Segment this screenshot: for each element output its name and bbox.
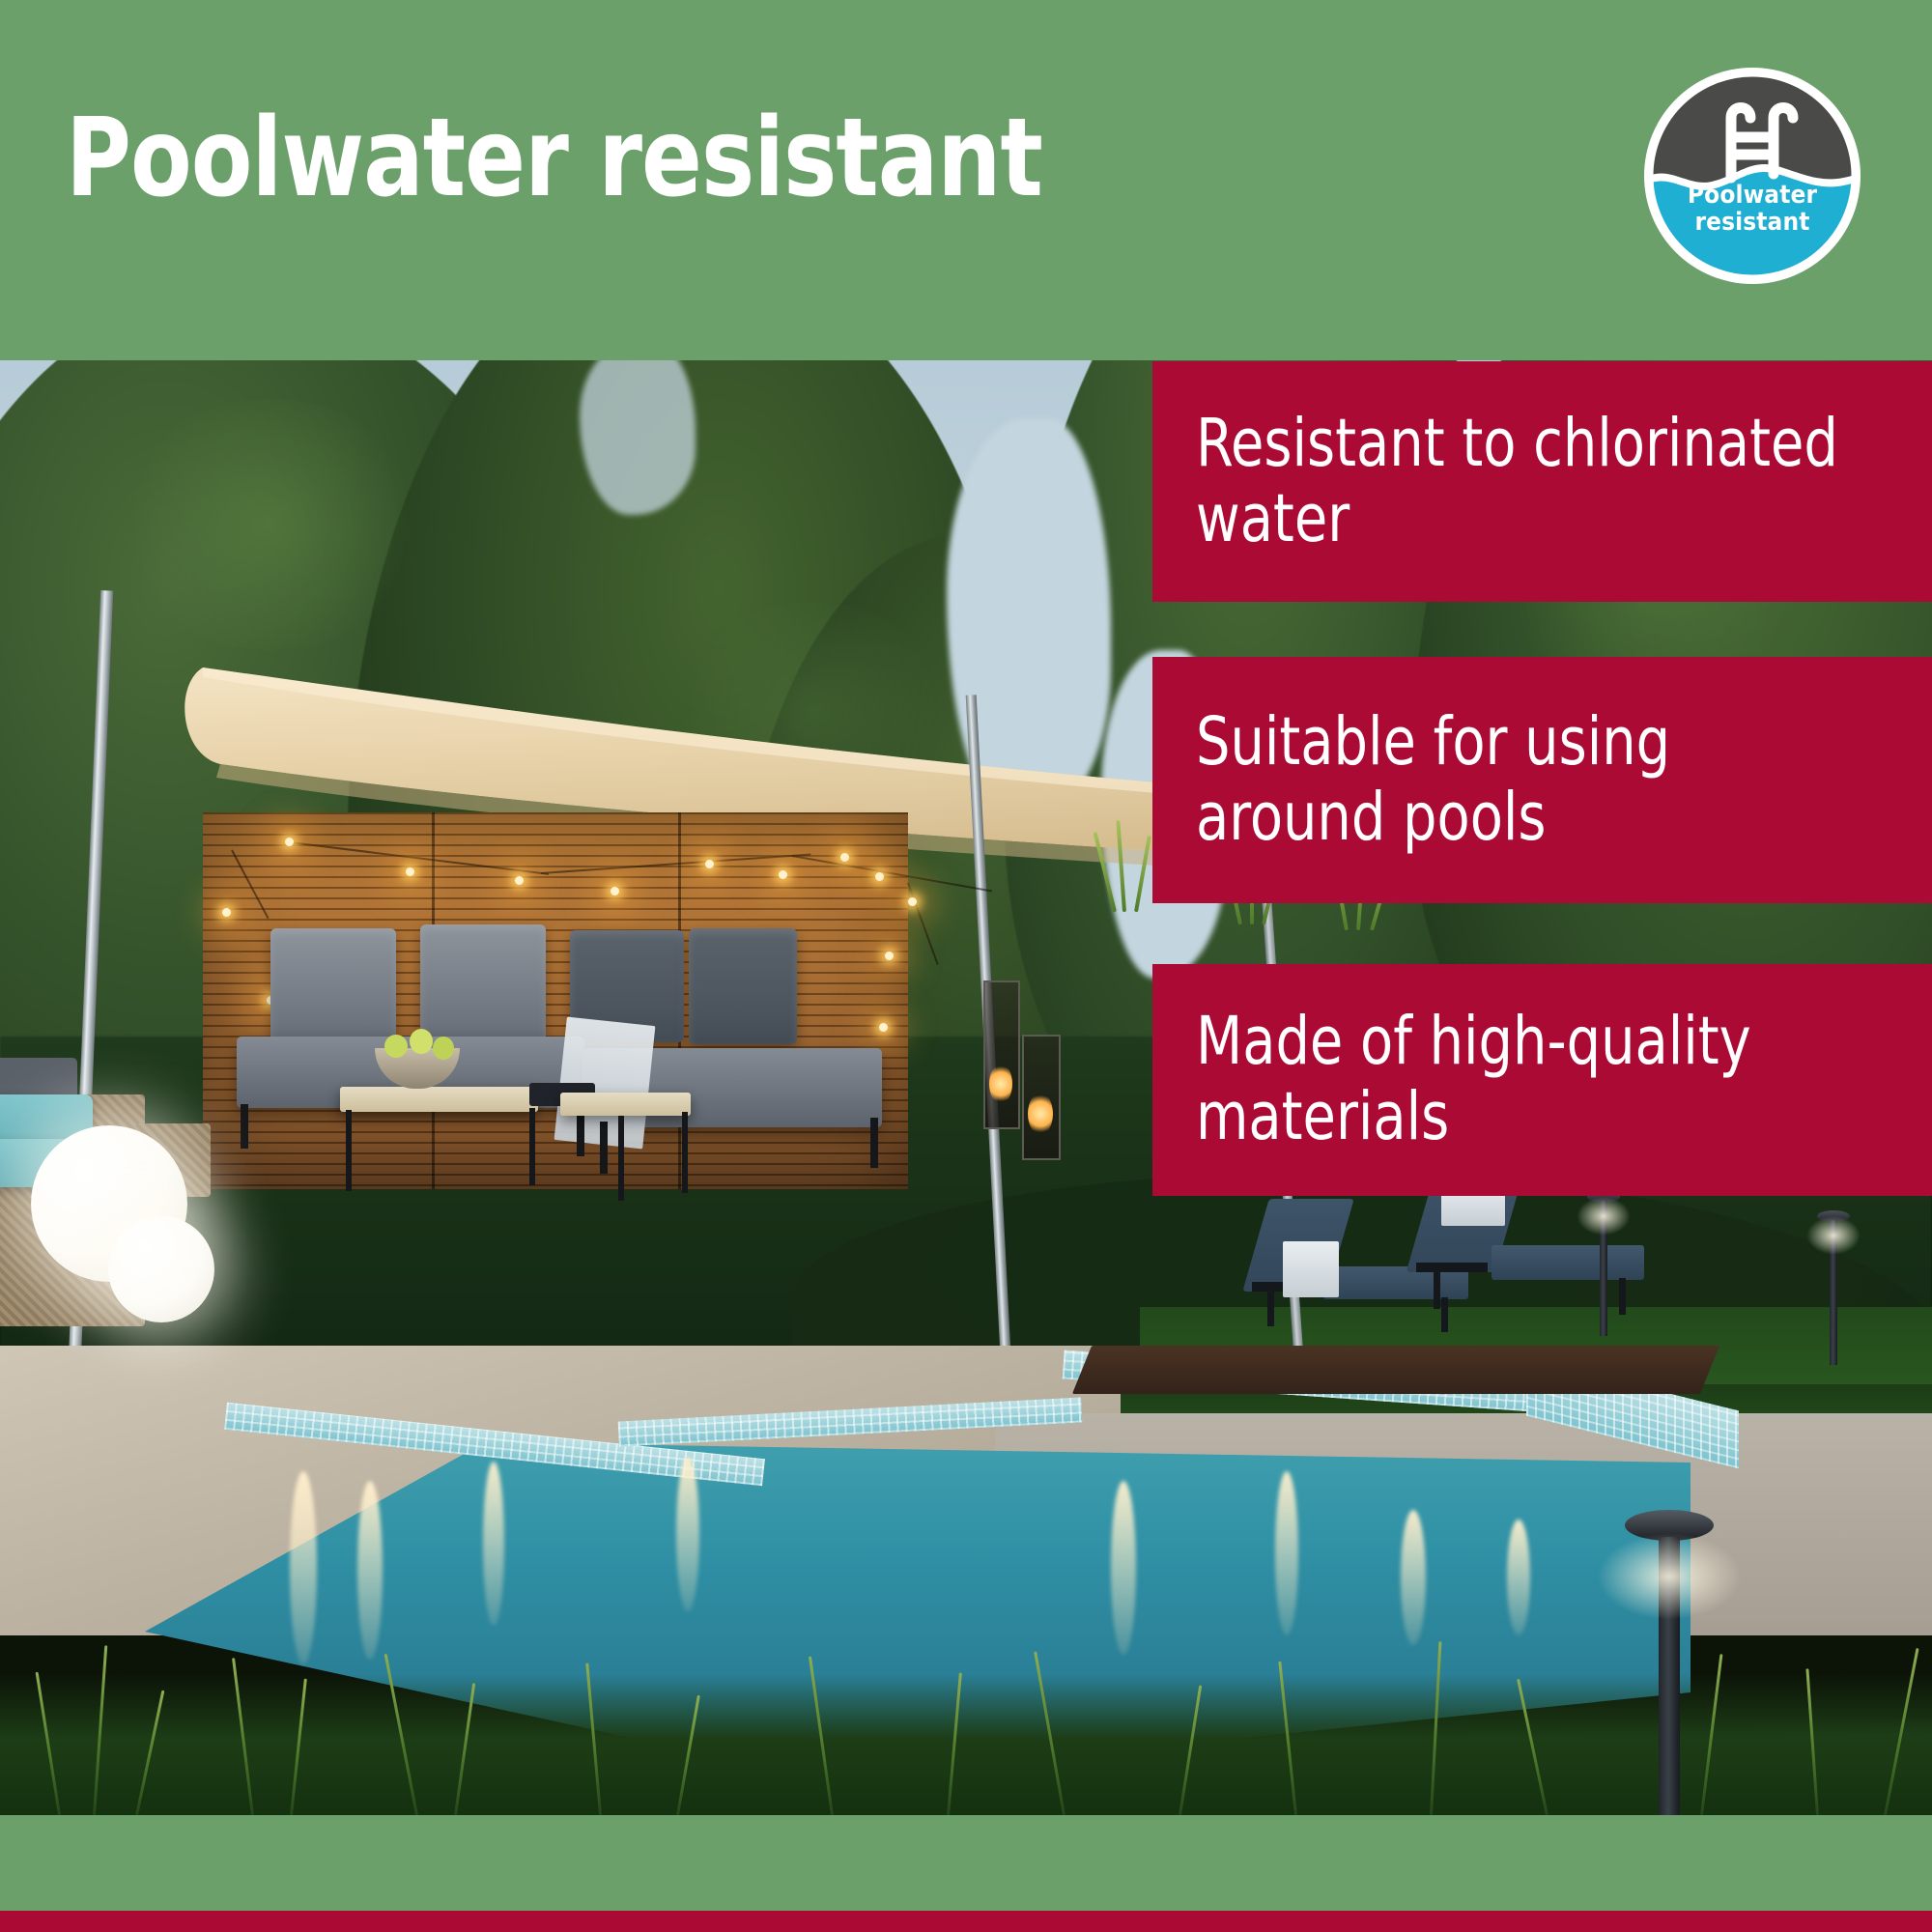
bollard-lamp-foreground [1621, 1510, 1718, 1815]
planter-bed [1072, 1346, 1719, 1394]
coffee-table-stone [560, 1093, 691, 1116]
poolwater-resistant-badge: Poolwater resistant [1642, 66, 1862, 286]
sofa-back-cushion [420, 924, 546, 1042]
string-light-bulb [285, 838, 294, 846]
string-light-bulb [406, 867, 414, 876]
sky-gap-3 [580, 360, 696, 515]
table-leg [529, 1108, 535, 1185]
callout-text: Resistant to chlorinated water [1152, 407, 1854, 557]
sofa-back-cushion [689, 928, 797, 1044]
bollard-lamp-glow [1597, 1533, 1742, 1620]
fruit-pear [433, 1037, 454, 1060]
string-light-bulb [779, 870, 787, 879]
table-leg [346, 1110, 352, 1191]
bollard-lamp-glow [1577, 1197, 1631, 1236]
garden-lantern-short [1022, 1017, 1059, 1191]
bollard-lamp-back-2 [1814, 1210, 1853, 1365]
table-leg [682, 1112, 688, 1193]
lantern-flame [1028, 1093, 1053, 1135]
foliage-highlight-1 [116, 399, 425, 650]
sofa-leg [241, 1104, 248, 1149]
sofa-leg [870, 1118, 878, 1168]
badge-label-line2: resistant [1642, 209, 1862, 236]
water-reflection [290, 1471, 317, 1664]
coffee-table-wood [340, 1087, 538, 1112]
callout-suitable-for-using-around-pools: Suitable for using around pools [1152, 657, 1932, 903]
lounger-leg [1267, 1290, 1274, 1326]
lounger-frame [1416, 1263, 1488, 1272]
string-light-bulb [908, 897, 917, 906]
sofa-back-cushion [270, 928, 396, 1042]
water-reflection [1507, 1520, 1530, 1635]
string-light-bulb [705, 860, 714, 868]
string-light-bulb [840, 853, 849, 862]
string-light-bulb [222, 908, 231, 917]
water-reflection [676, 1457, 699, 1611]
water-reflection [357, 1481, 383, 1660]
bollard-lamp-back-1 [1584, 1191, 1623, 1336]
sofa-leg [577, 1110, 584, 1156]
badge-label-line1: Poolwater [1642, 182, 1862, 209]
garden-lantern-tall [983, 980, 1018, 1164]
callout-resistant-to-chlorinated-water: Resistant to chlorinated water [1152, 361, 1932, 602]
lounger-leg [1434, 1270, 1440, 1309]
footer-green-band [0, 1815, 1932, 1911]
badge-label: Poolwater resistant [1642, 182, 1862, 236]
string-light-bulb [515, 876, 524, 885]
callout-text: Suitable for using around pools [1152, 705, 1854, 856]
table-leg [618, 1116, 624, 1201]
water-reflection [1111, 1481, 1136, 1655]
bollard-lamp-glow [1806, 1216, 1861, 1255]
callout-text: Made of high-quality materials [1152, 1005, 1854, 1155]
string-light-bulb [611, 887, 619, 895]
lounger-towel [1283, 1241, 1339, 1297]
string-light-bulb [875, 872, 884, 881]
water-reflection [1275, 1471, 1298, 1635]
banner-canvas: Poolwater resistant Poolwater [0, 0, 1932, 1932]
page-title: Poolwater resistant [66, 104, 1042, 213]
water-reflection [1401, 1510, 1426, 1645]
callout-made-of-high-quality-materials: Made of high-quality materials [1152, 964, 1932, 1196]
sofa-leg [600, 1122, 608, 1174]
globe-lamp-small [108, 1216, 214, 1322]
lantern-flame [989, 1064, 1012, 1104]
fruit-pear [410, 1029, 433, 1054]
footer-red-band [0, 1911, 1932, 1932]
badge-graphic [1642, 66, 1862, 286]
fruit-pear [384, 1035, 408, 1058]
water-reflection [483, 1462, 504, 1626]
lantern-body [983, 980, 1020, 1129]
